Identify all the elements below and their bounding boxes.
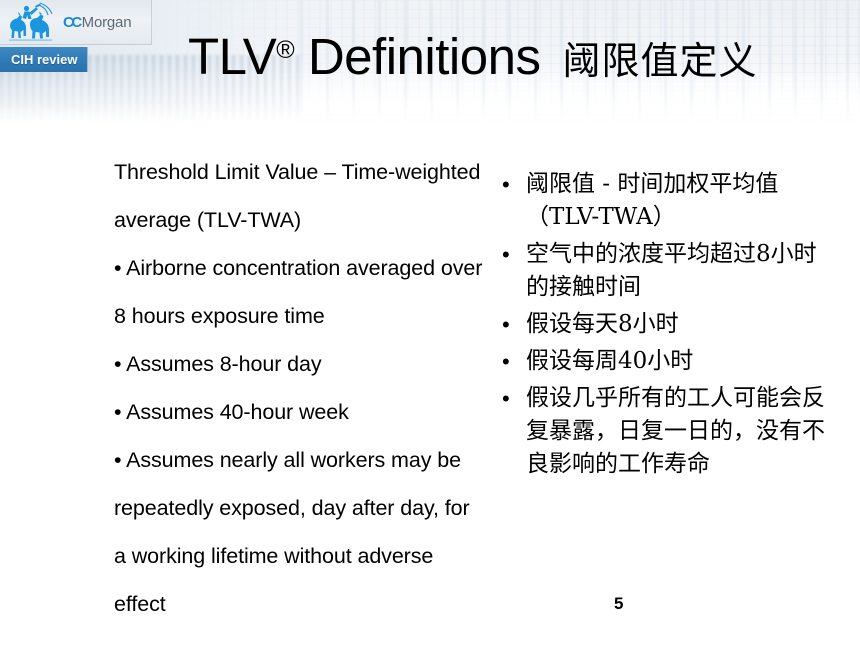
page-number: 5 <box>614 594 623 614</box>
list-item-label: 假设几乎所有的工人可能会反复暴露，日复一日的，没有不良影响的工作寿命 <box>526 382 826 481</box>
english-text-column: Threshold Limit Value – Time-weighted av… <box>114 148 486 628</box>
english-paragraph: Threshold Limit Value – Time-weighted av… <box>114 148 486 244</box>
cih-review-badge[interactable]: CIH review <box>0 47 88 72</box>
slide-header: CCMorgan CIH review TLV® Definitions阈限值定… <box>0 0 860 122</box>
chariot-horses-logo-icon <box>6 2 62 42</box>
logo-wordmark: CCMorgan <box>63 14 131 31</box>
slide-content: Threshold Limit Value – Time-weighted av… <box>0 122 860 650</box>
chinese-text-column: • 阈限值 - 时间加权平均值（TLV-TWA） • 空气中的浓度平均超过8小时… <box>496 168 826 485</box>
list-item: • 假设几乎所有的工人可能会反复暴露，日复一日的，没有不良影响的工作寿命 <box>496 382 826 481</box>
bullet-icon: • <box>496 238 526 304</box>
list-item-label: 空气中的浓度平均超过8小时的接触时间 <box>526 238 826 304</box>
list-item-label: 阈限值 - 时间加权平均值（TLV-TWA） <box>526 168 826 234</box>
list-item: • 阈限值 - 时间加权平均值（TLV-TWA） <box>496 168 826 234</box>
bullet-icon: • <box>496 382 526 481</box>
page-title-chinese: 阈限值定义 <box>562 39 757 83</box>
cih-review-badge-label: CIH review <box>11 52 77 67</box>
bullet-icon: • <box>496 345 526 378</box>
english-paragraph: • Assumes 8-hour day <box>114 340 486 388</box>
registered-trademark-icon: ® <box>276 36 294 64</box>
list-item-label: 假设每周40小时 <box>526 345 693 378</box>
page-title: TLV® Definitions阈限值定义 <box>188 31 757 82</box>
page-title-english: TLV® Definitions <box>188 28 540 85</box>
list-item-label: 假设每天8小时 <box>526 308 679 341</box>
page-title-tlv: TLV <box>188 28 276 85</box>
list-item: • 空气中的浓度平均超过8小时的接触时间 <box>496 238 826 304</box>
company-logo: CCMorgan <box>0 0 152 45</box>
page-title-definitions: Definitions <box>294 28 540 85</box>
list-item: • 假设每天8小时 <box>496 308 826 341</box>
bullet-icon: • <box>496 308 526 341</box>
bullet-icon: • <box>496 168 526 234</box>
english-paragraph: • Airborne concentration averaged over 8… <box>114 244 486 340</box>
logo-wordmark-name: Morgan <box>82 14 132 31</box>
logo-wordmark-prefix: CC <box>63 14 80 31</box>
english-paragraph: • Assumes nearly all workers may be repe… <box>114 436 486 628</box>
list-item: • 假设每周40小时 <box>496 345 826 378</box>
english-paragraph: • Assumes 40-hour week <box>114 388 486 436</box>
